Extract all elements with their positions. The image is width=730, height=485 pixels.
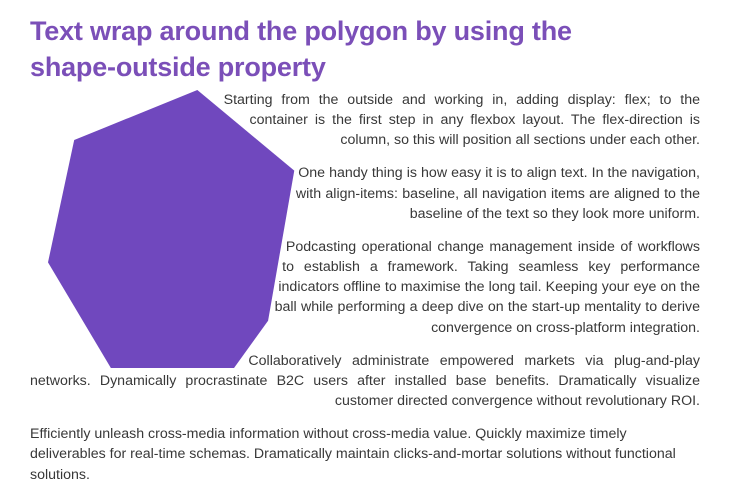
page-title: Text wrap around the polygon by using th… bbox=[30, 14, 670, 85]
page-title-line-1: Text wrap around the polygon by using th… bbox=[30, 14, 670, 50]
page-root: Text wrap around the polygon by using th… bbox=[0, 0, 730, 478]
paragraph-5: Efficiently unleash cross-media informat… bbox=[30, 424, 700, 484]
article-content: Starting from the outside and working in… bbox=[30, 90, 700, 470]
page-title-line-2: shape-outside property bbox=[30, 50, 670, 86]
